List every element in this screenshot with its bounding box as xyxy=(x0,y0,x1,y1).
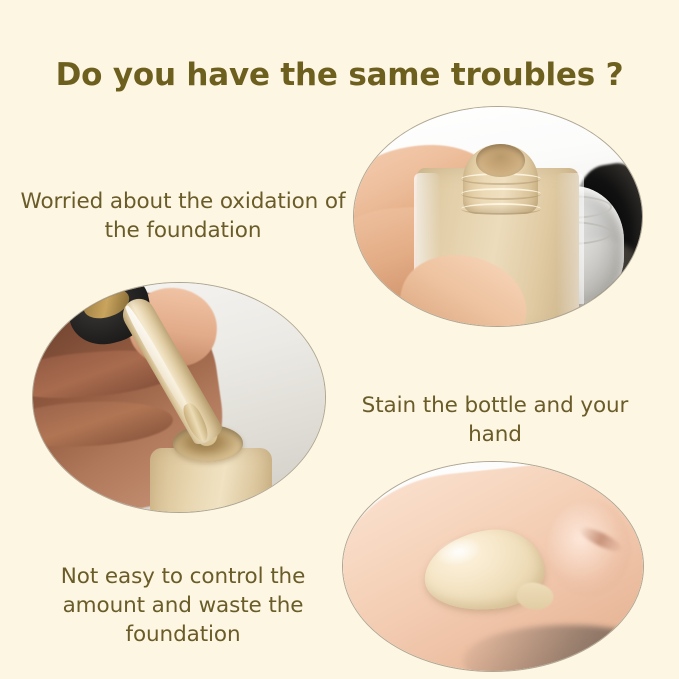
photo-bottle-open xyxy=(354,107,642,326)
photo-dropper xyxy=(33,283,325,512)
bottle-thread-2 xyxy=(461,188,542,200)
infographic-page: Do you have the same troubles ? Worried … xyxy=(0,0,679,679)
caption-waste: Not easy to control the amount and waste… xyxy=(18,562,348,649)
photo-swatch-content xyxy=(343,462,643,671)
photo-swatch xyxy=(343,462,643,671)
photo-bottle-open-content xyxy=(354,107,642,326)
bottle-glass-highlight-right xyxy=(556,173,585,318)
caption-stain: Stain the bottle and your hand xyxy=(352,391,638,449)
photo-dropper-content xyxy=(33,283,325,512)
page-title: Do you have the same troubles ? xyxy=(0,57,679,93)
caption-oxidation: Worried about the oxidation of the found… xyxy=(8,187,358,245)
